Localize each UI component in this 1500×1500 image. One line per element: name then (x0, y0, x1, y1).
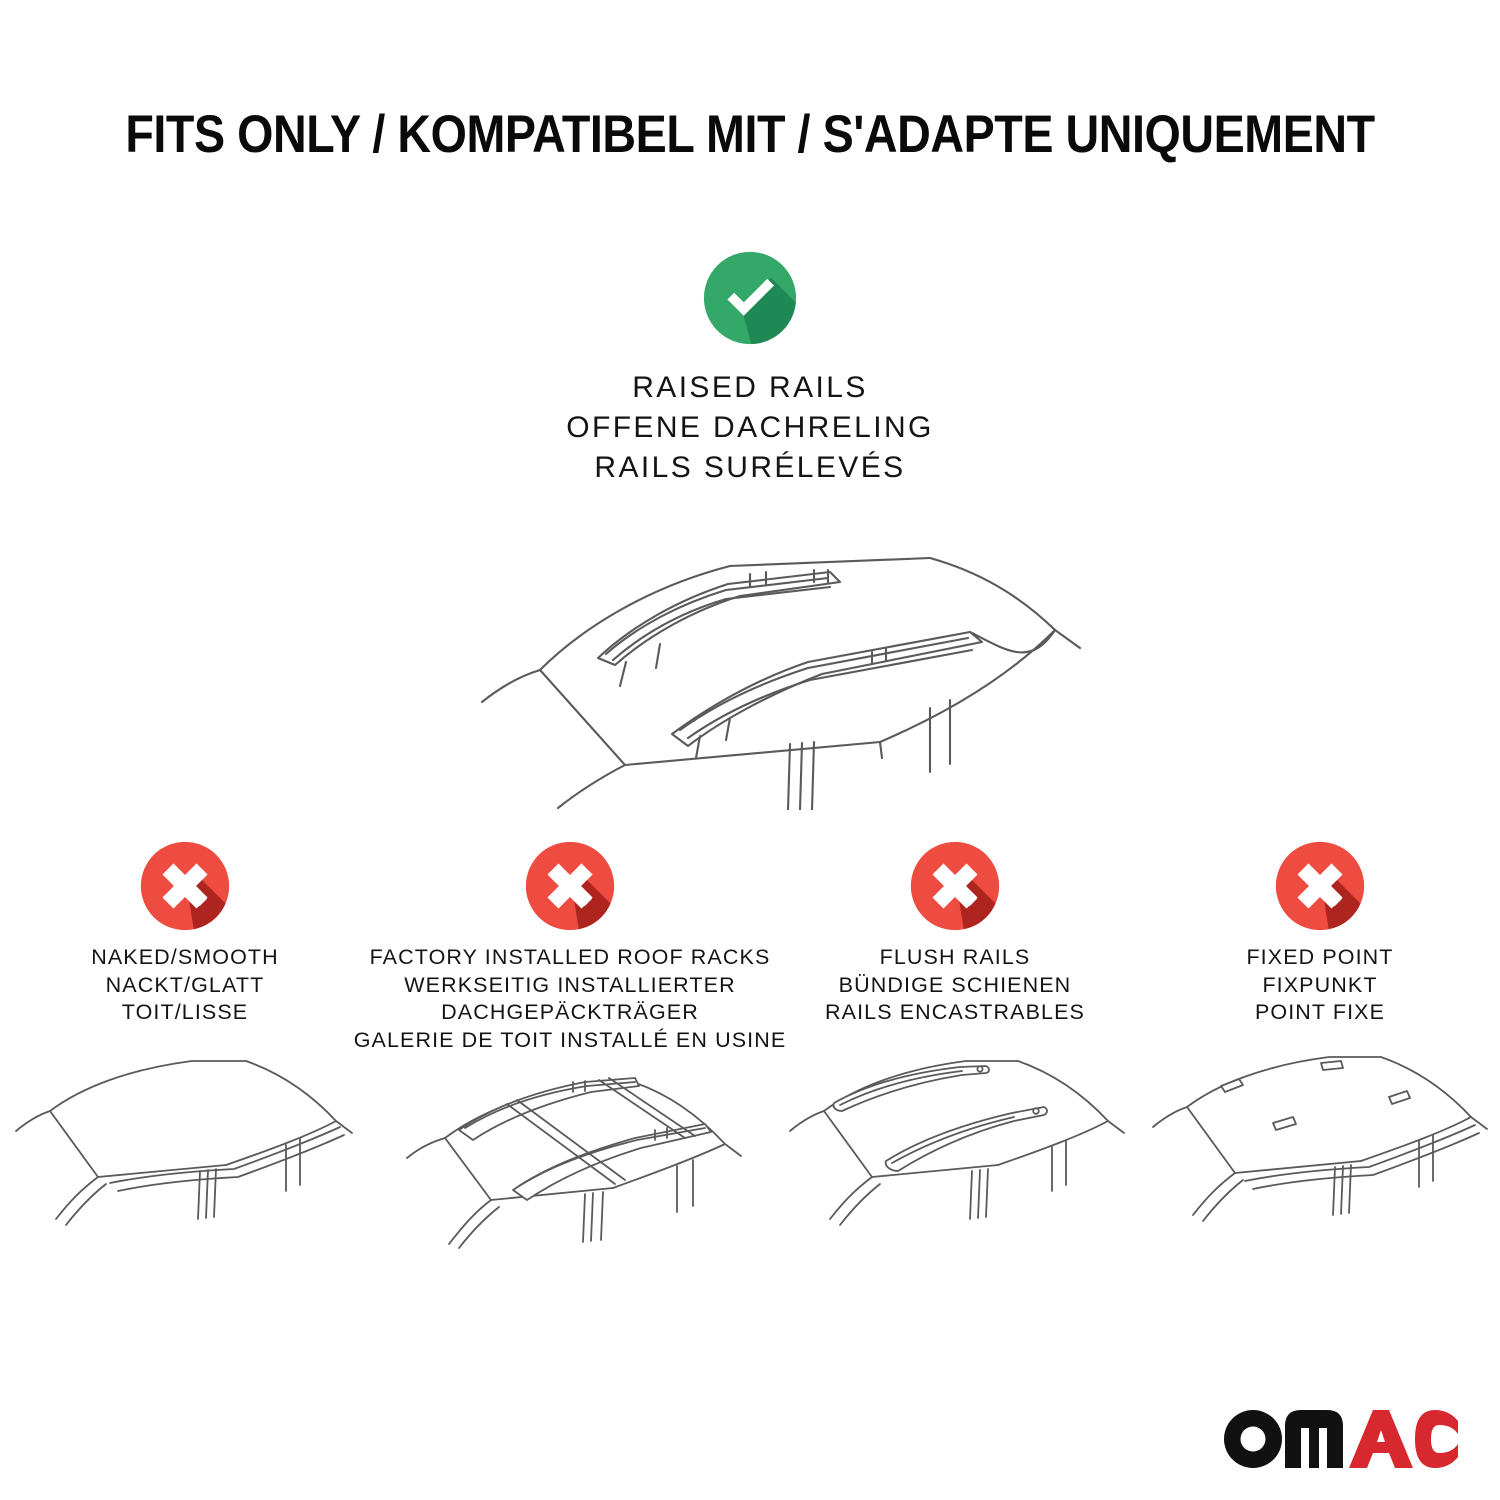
compatible-label-en: RAISED RAILS (566, 368, 934, 408)
label-fr: TOIT/LISSE (91, 999, 279, 1027)
compatible-label-fr: RAILS SURÉLEVÉS (566, 448, 934, 488)
car-roof-fixed-point-illustration (1145, 1041, 1495, 1256)
logo-text: OMAC (1223, 1408, 1271, 1412)
logo-letter-m (1285, 1410, 1343, 1468)
incompatible-item-fixed-point: FIXED POINT FIXPUNKT POINT FIXE (1140, 840, 1500, 1256)
incompatible-item-naked-smooth: NAKED/SMOOTH NACKT/GLATT TOIT/LISSE (0, 840, 370, 1256)
incompatible-label-factory-racks: FACTORY INSTALLED ROOF RACKS WERKSEITIG … (354, 944, 787, 1054)
x-circle-icon (524, 840, 616, 932)
omac-logo: OMAC (1223, 1408, 1458, 1470)
car-roof-naked-smooth-illustration (10, 1041, 360, 1256)
compatible-label: RAISED RAILS OFFENE DACHRELING RAILS SUR… (566, 368, 934, 488)
logo-letter-c (1415, 1410, 1458, 1468)
label-en: FIXED POINT (1246, 944, 1393, 972)
compatible-section: RAISED RAILS OFFENE DACHRELING RAILS SUR… (0, 250, 1500, 810)
x-circle-icon (139, 840, 231, 932)
label-en: FACTORY INSTALLED ROOF RACKS (354, 944, 787, 972)
incompatible-item-flush-rails: FLUSH RAILS BÜNDIGE SCHIENEN RAILS ENCAS… (770, 840, 1140, 1256)
label-en: FLUSH RAILS (825, 944, 1085, 972)
car-roof-flush-rails-illustration (780, 1041, 1130, 1256)
incompatible-item-factory-racks: FACTORY INSTALLED ROOF RACKS WERKSEITIG … (370, 840, 770, 1283)
label-fr: POINT FIXE (1246, 999, 1393, 1027)
label-de: NACKT/GLATT (91, 972, 279, 1000)
logo-letter-a (1349, 1410, 1413, 1468)
label-en: NAKED/SMOOTH (91, 944, 279, 972)
incompatible-label-fixed-point: FIXED POINT FIXPUNKT POINT FIXE (1246, 944, 1393, 1027)
label-fr: GALERIE DE TOIT INSTALLÉ EN USINE (354, 1027, 787, 1055)
logo-letter-o (1224, 1410, 1282, 1468)
incompatible-section: NAKED/SMOOTH NACKT/GLATT TOIT/LISSE (0, 840, 1500, 1283)
label-de-2: DACHGEPÄCKTRÄGER (354, 999, 787, 1027)
label-fr: RAILS ENCASTRABLES (825, 999, 1085, 1027)
car-roof-raised-rails-illustration (410, 510, 1090, 810)
incompatible-label-flush-rails: FLUSH RAILS BÜNDIGE SCHIENEN RAILS ENCAS… (825, 944, 1085, 1027)
check-circle-icon (702, 250, 798, 346)
label-de: BÜNDIGE SCHIENEN (825, 972, 1085, 1000)
page-title: FITS ONLY / KOMPATIBEL MIT / S'ADAPTE UN… (90, 104, 1410, 165)
incompatible-label-naked-smooth: NAKED/SMOOTH NACKT/GLATT TOIT/LISSE (91, 944, 279, 1027)
label-de: FIXPUNKT (1246, 972, 1393, 1000)
x-circle-icon (909, 840, 1001, 932)
x-circle-icon (1274, 840, 1366, 932)
car-roof-factory-racks-illustration (385, 1068, 755, 1283)
label-de: WERKSEITIG INSTALLIERTER (354, 972, 787, 1000)
compatible-label-de: OFFENE DACHRELING (566, 408, 934, 448)
